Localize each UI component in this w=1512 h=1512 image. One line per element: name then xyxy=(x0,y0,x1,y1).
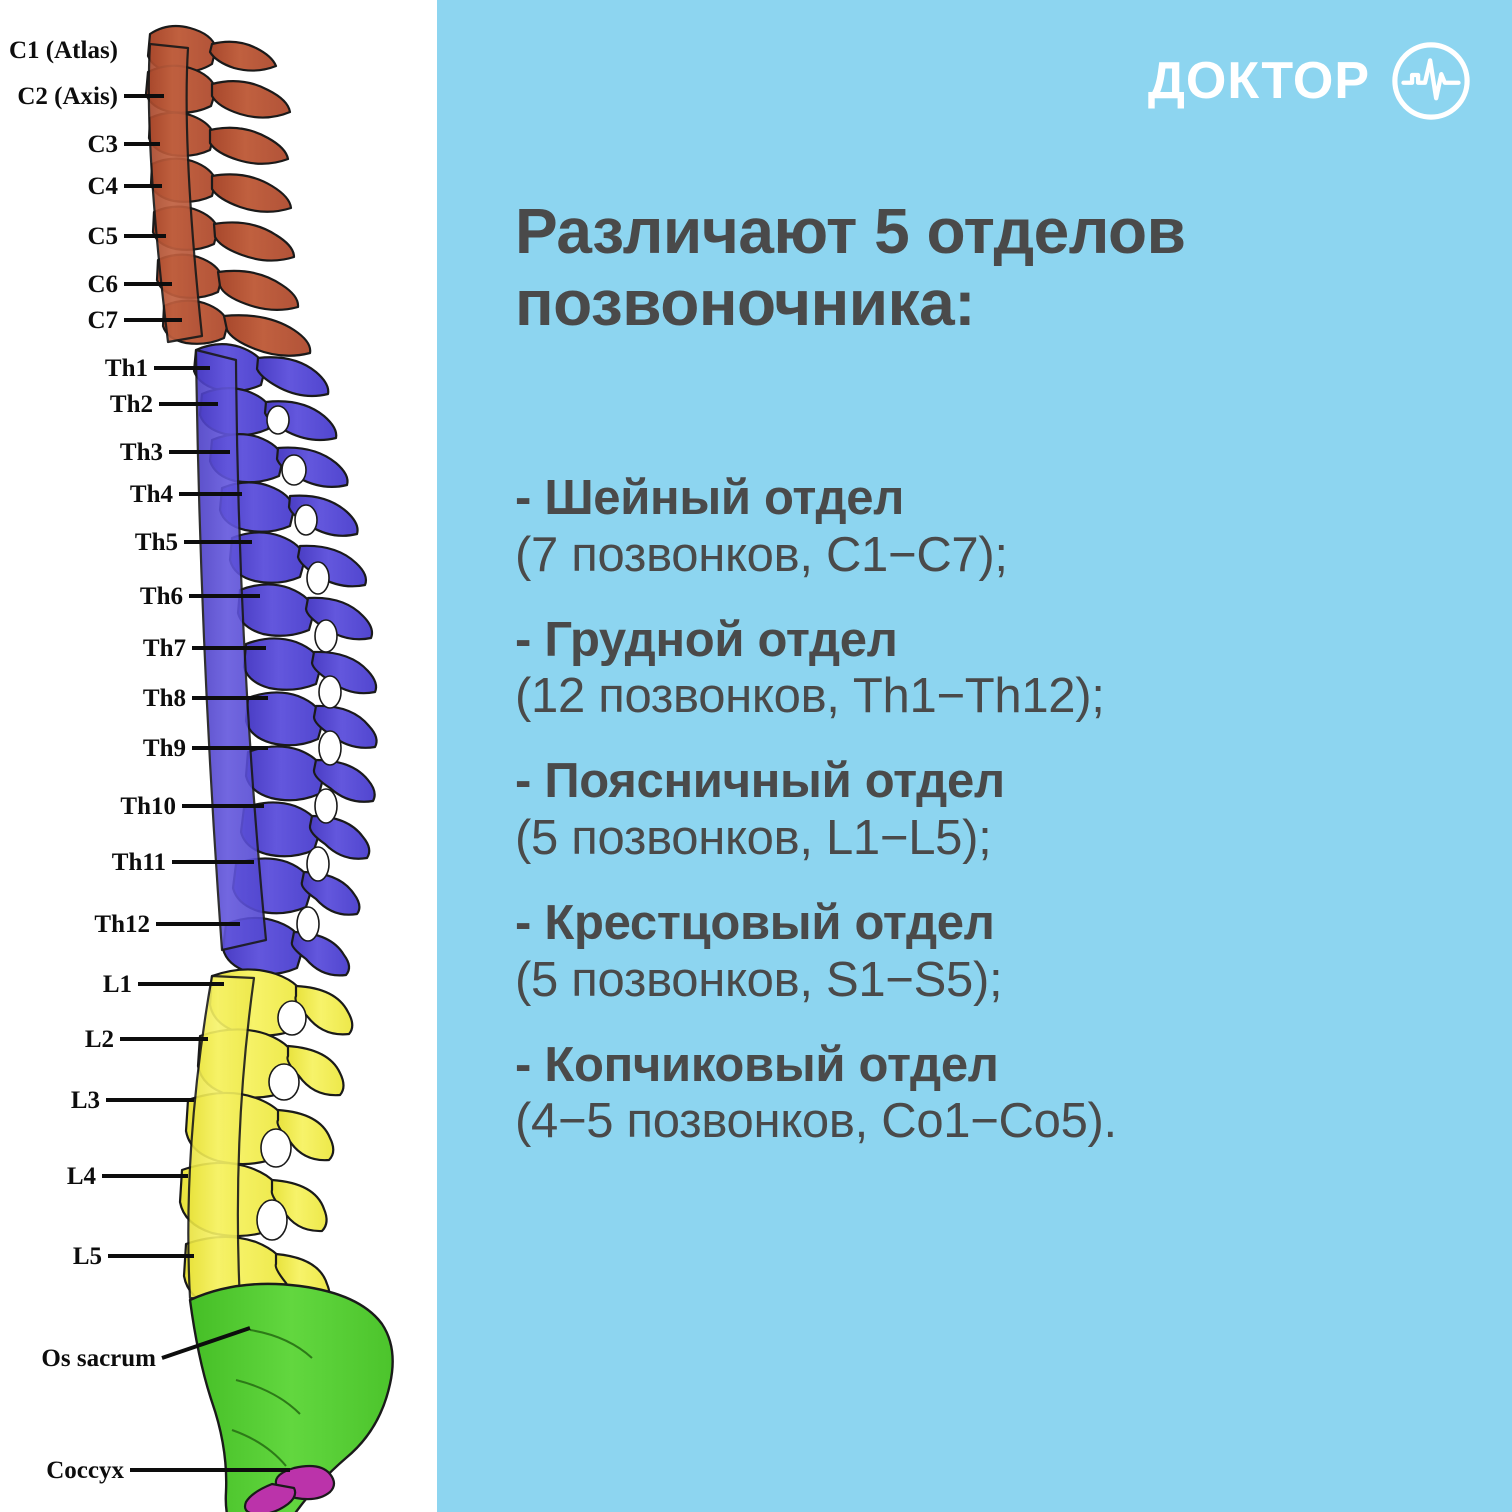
list-item: - Поясничный отдел (5 позвонков, L1−L5); xyxy=(515,753,1495,867)
section-title: - Поясничный отдел xyxy=(515,753,1495,810)
label-l5: L5 xyxy=(73,1243,194,1270)
thoracic-region xyxy=(194,344,377,975)
label-th12: Th12 xyxy=(94,911,240,938)
label-text: L2 xyxy=(85,1026,114,1053)
label-text: Th2 xyxy=(110,391,153,418)
label-text: L5 xyxy=(73,1243,102,1270)
section-detail: (5 позвонков, L1−L5); xyxy=(515,810,1495,867)
label-text: L1 xyxy=(103,971,132,998)
label-text: Th5 xyxy=(135,529,178,556)
label-text: Th6 xyxy=(140,583,183,610)
label-text: Th1 xyxy=(105,355,148,382)
label-text: Th9 xyxy=(143,735,186,762)
label-text: Th4 xyxy=(130,481,174,508)
headline-line-1: Различают 5 отделов xyxy=(515,196,1445,268)
label-text: Th3 xyxy=(120,439,163,466)
section-detail: (4−5 позвонков, Co1−Co5). xyxy=(515,1093,1495,1150)
info-panel: ДОКТОР Различают 5 отделов позвоночника:… xyxy=(437,0,1512,1512)
section-title: - Крестцовый отдел xyxy=(515,895,1495,952)
label-text: C6 xyxy=(87,271,118,298)
label-text: Th12 xyxy=(94,911,150,938)
label-text: Coccyx xyxy=(46,1457,124,1484)
section-detail: (7 позвонков, C1−C7); xyxy=(515,527,1495,584)
section-title: - Грудной отдел xyxy=(515,612,1495,669)
section-title: - Копчиковый отдел xyxy=(515,1037,1495,1094)
section-title: - Шейный отдел xyxy=(515,470,1495,527)
label-text: L3 xyxy=(71,1087,100,1114)
list-item: - Грудной отдел (12 позвонков, Th1−Th12)… xyxy=(515,612,1495,726)
spine-sections-list: - Шейный отдел (7 позвонков, C1−C7); - Г… xyxy=(515,470,1495,1178)
page-title: Различают 5 отделов позвоночника: xyxy=(515,196,1445,339)
infographic-canvas: C1 (Atlas) C2 (Axis) C3 C4 C5 C6 C7 Th1 … xyxy=(0,0,1512,1512)
brand-wordmark: ДОКТОР xyxy=(1148,55,1370,107)
label-l3: L3 xyxy=(71,1087,194,1114)
list-item: - Копчиковый отдел (4−5 позвонков, Co1−C… xyxy=(515,1037,1495,1151)
label-l2: L2 xyxy=(85,1026,208,1053)
label-c2: C2 (Axis) xyxy=(17,83,164,110)
label-l4: L4 xyxy=(67,1163,188,1190)
label-text: C5 xyxy=(87,223,118,250)
label-text: Th11 xyxy=(112,849,166,876)
label-text: Th10 xyxy=(120,793,176,820)
label-l1: L1 xyxy=(103,971,224,998)
headline-line-2: позвоночника: xyxy=(515,268,1445,340)
list-item: - Крестцовый отдел (5 позвонков, S1−S5); xyxy=(515,895,1495,1009)
label-text: C1 (Atlas) xyxy=(9,37,118,64)
section-detail: (12 позвонков, Th1−Th12); xyxy=(515,668,1495,725)
cervical-region xyxy=(146,26,310,356)
lumbar-region xyxy=(180,969,352,1311)
ecg-heartbeat-circle-icon xyxy=(1388,38,1474,124)
spine-diagram-svg: C1 (Atlas) C2 (Axis) C3 C4 C5 C6 C7 Th1 … xyxy=(0,0,437,1512)
label-text: Th8 xyxy=(143,685,186,712)
section-detail: (5 позвонков, S1−S5); xyxy=(515,952,1495,1009)
label-text: C2 (Axis) xyxy=(17,83,118,110)
label-text: Th7 xyxy=(143,635,186,662)
label-c1: C1 (Atlas) xyxy=(9,37,118,64)
label-text: L4 xyxy=(67,1163,97,1190)
list-item: - Шейный отдел (7 позвонков, C1−C7); xyxy=(515,470,1495,584)
label-text: C4 xyxy=(87,173,118,200)
label-text: C7 xyxy=(87,307,118,334)
spine-anatomy-panel: C1 (Atlas) C2 (Axis) C3 C4 C5 C6 C7 Th1 … xyxy=(0,0,437,1512)
brand-logo: ДОКТОР xyxy=(1148,38,1474,124)
label-text: Os sacrum xyxy=(41,1345,156,1372)
label-text: C3 xyxy=(87,131,118,158)
